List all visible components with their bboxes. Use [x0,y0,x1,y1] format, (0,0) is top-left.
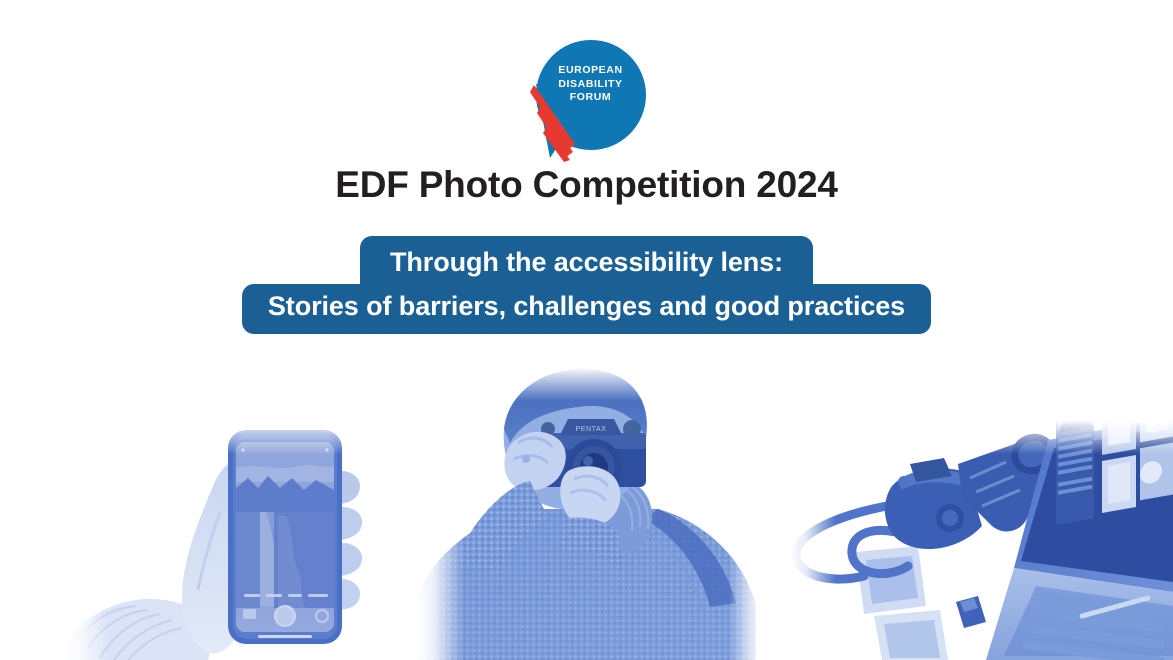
subtitle-line-1: Through the accessibility lens: [360,236,813,285]
photo-edge-fade-left [62,420,108,660]
right-hand [560,466,620,526]
photo-strip: PENTAX [0,355,1173,660]
poster-canvas: EUROPEAN DISABILITY FORUM EDF Photo Comp… [0,0,1173,660]
photo-edge-fade-top [62,420,402,454]
photo-edge-fade-left [418,367,464,660]
smartphone [228,430,342,644]
phone-camera-preview [236,442,334,632]
european-disability-forum-logo: EUROPEAN DISABILITY FORUM [528,40,646,162]
camera-shutter-dial [623,420,641,438]
photo-edge-fade-top [790,420,1173,454]
phone-shutter-button [274,605,296,627]
photo-camera-and-laptop [790,420,1173,660]
phone-home-indicator [258,635,312,638]
photo-edge-fade-top [418,367,763,401]
page-title: EDF Photo Competition 2024 [0,163,1173,207]
printed-photos [856,546,948,660]
ring [522,455,530,463]
photo-edge-fade-right [729,367,763,660]
subtitle-banner: Through the accessibility lens: Stories … [0,236,1173,334]
svg-text:PENTAX: PENTAX [575,426,606,433]
subtitle-line-2: Stories of barriers, challenges and good… [242,284,931,334]
memory-card [956,596,986,628]
photo-hand-holding-smartphone [62,420,402,660]
phone-gallery-thumb [243,609,256,619]
logo-container: EUROPEAN DISABILITY FORUM [0,40,1173,165]
photo-person-with-film-camera: PENTAX [418,367,763,660]
photo-edge-fade-left [790,420,836,660]
